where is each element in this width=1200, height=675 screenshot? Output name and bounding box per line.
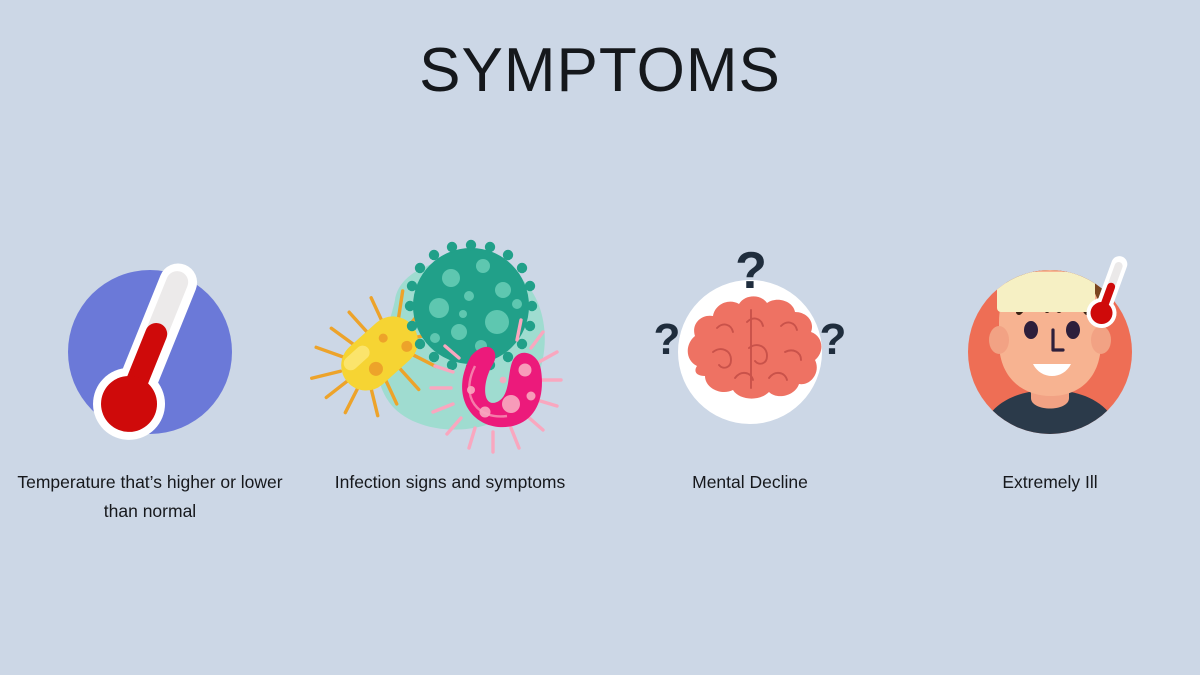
symptom-caption-extremely-ill: Extremely Ill (900, 468, 1200, 497)
question-mark-top: ? (735, 242, 767, 300)
symptom-card-extremely-ill[interactable]: Extremely Ill (900, 230, 1200, 497)
eye-left (1024, 321, 1038, 339)
slide-canvas: SYMPTOMS Temperature that’s higher or lo… (0, 0, 1200, 675)
eye-right (1066, 321, 1080, 339)
symptom-card-temperature[interactable]: Temperature that’s higher or lower than … (0, 230, 300, 527)
question-mark-left: ? (654, 315, 681, 364)
forehead-compress (997, 272, 1095, 312)
ear-left (989, 326, 1009, 354)
question-mark-right: ? (820, 315, 847, 364)
symptom-card-mental-decline[interactable]: ? ? ? Mental Decline (600, 230, 900, 497)
symptom-card-list: Temperature that’s higher or lower than … (0, 230, 1200, 527)
brain-question-icon: ? ? ? (635, 230, 865, 460)
symptom-caption-mental-decline: Mental Decline (600, 468, 900, 497)
germs-icon (335, 230, 565, 460)
page-title: SYMPTOMS (0, 40, 1200, 102)
symptom-card-infection[interactable]: Infection signs and symptoms (300, 230, 600, 497)
sick-person-icon (935, 230, 1165, 460)
symptom-caption-temperature: Temperature that’s higher or lower than … (0, 468, 300, 527)
thermometer-icon (35, 230, 265, 460)
symptom-caption-infection: Infection signs and symptoms (300, 468, 600, 497)
person-figure (979, 252, 1121, 442)
ear-right (1091, 326, 1111, 354)
